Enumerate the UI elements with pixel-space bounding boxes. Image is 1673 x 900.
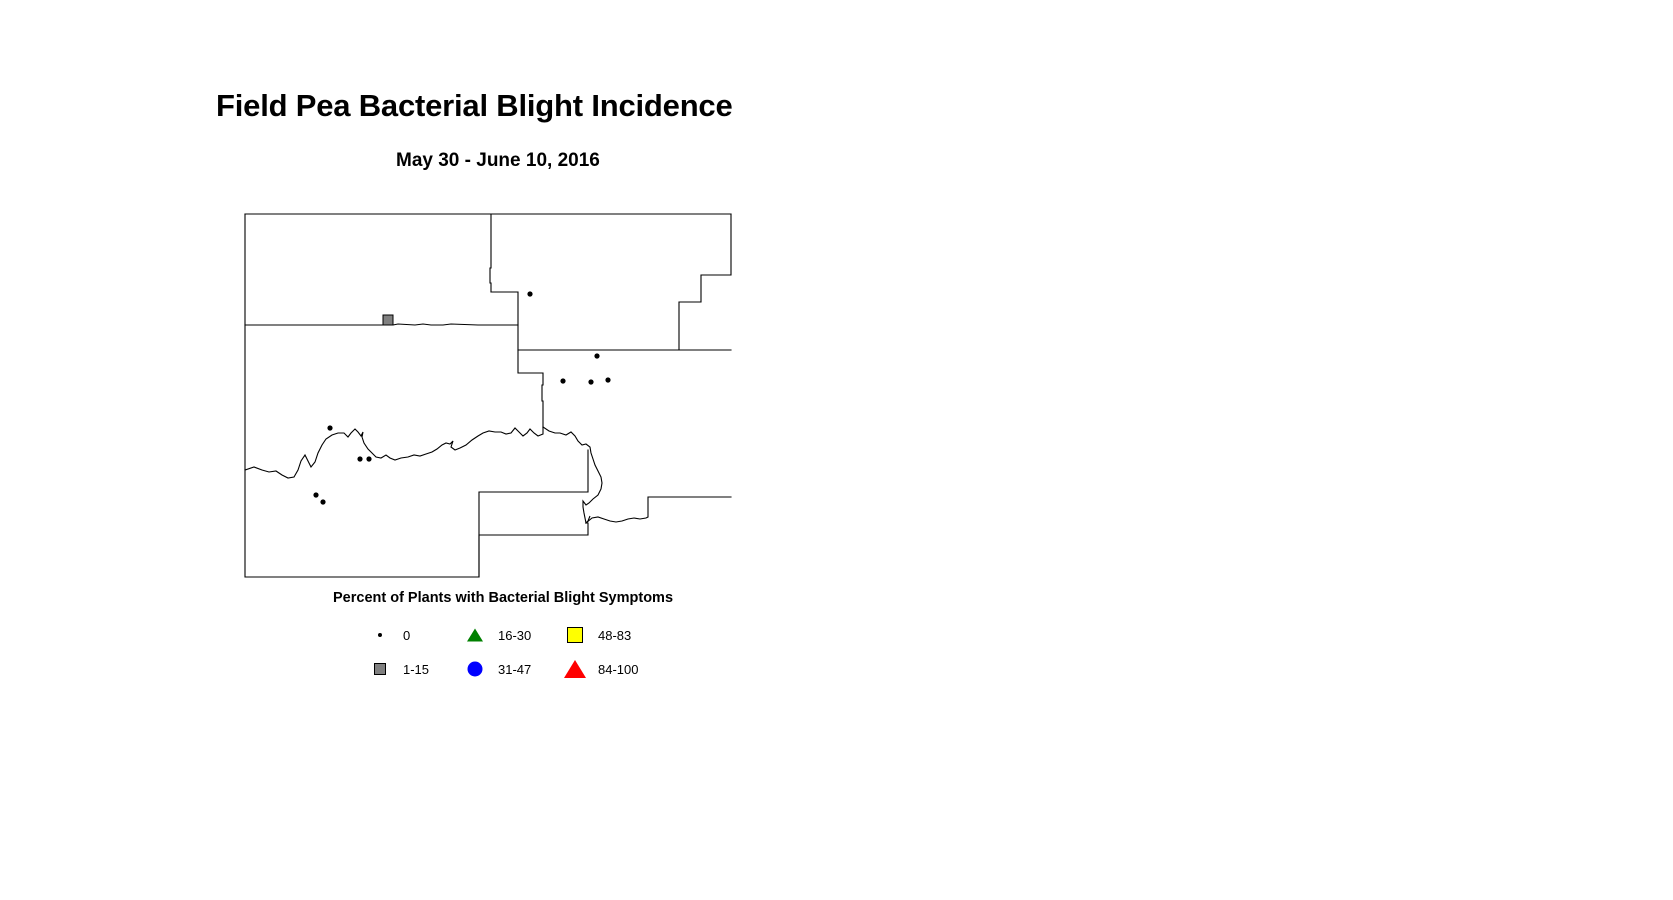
legend-title: Percent of Plants with Bacterial Blight … [333,590,673,606]
map-canvas[interactable] [238,205,738,590]
boundary-ne-step [491,292,731,350]
map-figure: Field Pea Bacterial Blight Incidence May… [0,0,1673,900]
data-point-incidence-0[interactable] [605,377,610,382]
legend-label: 0 [403,628,410,643]
small-black-dot-icon [369,624,391,646]
boundary-nw-ne-divider [490,214,491,292]
boundary-south-step [479,523,588,577]
boundary-west-outer [245,214,588,577]
gray-square-icon [369,658,391,680]
boundary-central-vertical [518,350,543,427]
red-triangle-icon [564,658,586,680]
green-triangle-icon [464,624,486,646]
boundary-west-midline [245,324,518,325]
legend-label: 84-100 [598,662,638,677]
data-point-incidence-1-15[interactable] [383,315,393,325]
boundary-river-west [245,427,543,478]
legend-item-16-30[interactable]: 16-30 [464,618,531,652]
data-points [313,291,610,504]
page-subtitle: May 30 - June 10, 2016 [396,150,600,172]
data-point-incidence-0[interactable] [357,456,362,461]
boundary-southeast-step [586,497,731,523]
data-point-incidence-0[interactable] [588,379,593,384]
legend-item-84-100[interactable]: 84-100 [564,652,638,686]
boundary-east-stairstep [679,214,731,350]
page-title: Field Pea Bacterial Blight Incidence [216,88,733,124]
data-point-incidence-0[interactable] [313,492,318,497]
legend-row: 1-15 31-47 84-100 [369,652,749,686]
legend-label: 48-83 [598,628,631,643]
data-point-incidence-0[interactable] [527,291,532,296]
county-boundaries [245,214,731,577]
data-point-incidence-0[interactable] [320,499,325,504]
data-point-incidence-0[interactable] [366,456,371,461]
legend-label: 31-47 [498,662,531,677]
legend-item-0[interactable]: 0 [369,618,410,652]
data-point-incidence-0[interactable] [560,378,565,383]
legend-label: 1-15 [403,662,429,677]
legend-grid: 0 16-30 48-83 [369,618,749,686]
blue-circle-icon [464,658,486,680]
legend-label: 16-30 [498,628,531,643]
data-point-incidence-0[interactable] [327,425,332,430]
legend-row: 0 16-30 48-83 [369,618,749,652]
boundary-river-east [543,427,602,523]
legend-item-48-83[interactable]: 48-83 [564,618,631,652]
county-map-svg [238,205,738,590]
legend-item-31-47[interactable]: 31-47 [464,652,531,686]
data-point-incidence-0[interactable] [594,353,599,358]
legend-item-1-15[interactable]: 1-15 [369,652,429,686]
yellow-square-icon [564,624,586,646]
